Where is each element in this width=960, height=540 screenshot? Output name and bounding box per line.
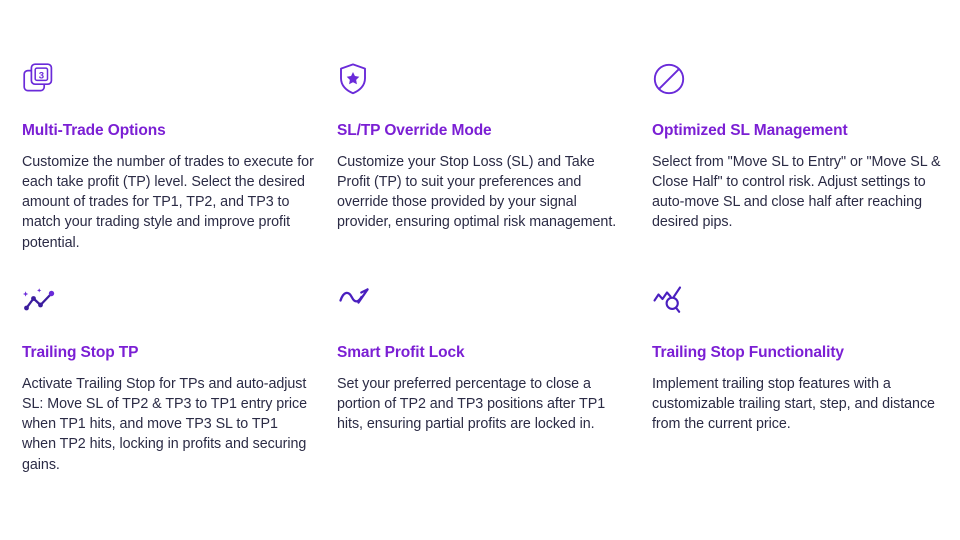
feature-card-smart-profit-lock: Smart Profit Lock Set your preferred per… — [337, 284, 629, 475]
feature-title: SL/TP Override Mode — [337, 122, 629, 141]
feature-card-multi-trade-options: 3 Multi-Trade Options Customize the numb… — [22, 62, 314, 284]
feature-body: Customize the number of trades to execut… — [22, 152, 314, 253]
stacked-squares-3-icon: 3 — [22, 62, 314, 106]
feature-body: Activate Trailing Stop for TPs and auto-… — [22, 374, 314, 475]
feature-body: Implement trailing stop features with a … — [652, 374, 944, 435]
feature-title: Multi-Trade Options — [22, 122, 314, 141]
chart-magnifier-icon — [652, 284, 944, 328]
feature-card-sl-tp-override-mode: SL/TP Override Mode Customize your Stop … — [337, 62, 629, 284]
feature-card-trailing-stop-tp: Trailing Stop TP Activate Trailing Stop … — [22, 284, 314, 475]
feature-title: Trailing Stop Functionality — [652, 344, 944, 363]
svg-text:3: 3 — [39, 70, 44, 81]
feature-body: Select from "Move SL to Entry" or "Move … — [652, 152, 944, 233]
zigzag-chart-icon — [337, 284, 629, 328]
feature-title: Trailing Stop TP — [22, 344, 314, 363]
features-grid: 3 Multi-Trade Options Customize the numb… — [22, 62, 960, 475]
feature-body: Set your preferred percentage to close a… — [337, 374, 629, 435]
circle-slash-icon — [652, 62, 944, 106]
feature-title: Smart Profit Lock — [337, 344, 629, 363]
sparkle-trendline-icon — [22, 284, 314, 328]
feature-card-trailing-stop-functionality: Trailing Stop Functionality Implement tr… — [652, 284, 944, 475]
feature-card-optimized-sl-management: Optimized SL Management Select from "Mov… — [652, 62, 944, 284]
feature-body: Customize your Stop Loss (SL) and Take P… — [337, 152, 629, 233]
features-page: 3 Multi-Trade Options Customize the numb… — [0, 0, 960, 540]
shield-star-icon — [337, 62, 629, 106]
feature-title: Optimized SL Management — [652, 122, 944, 141]
